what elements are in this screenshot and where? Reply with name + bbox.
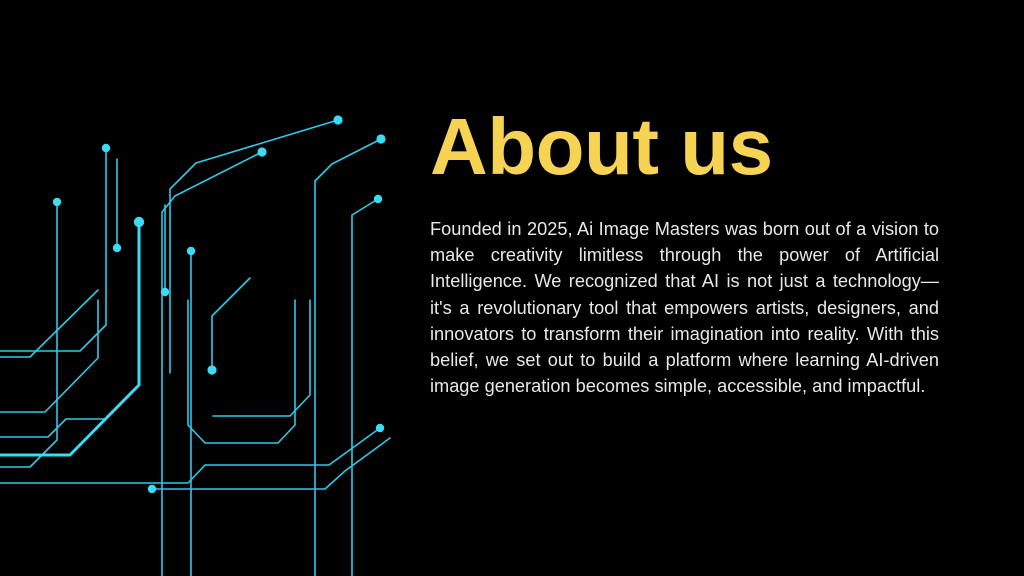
trace-diag-4 xyxy=(352,199,378,576)
about-us-paragraph: Founded in 2025, Ai Image Masters was bo… xyxy=(430,216,939,399)
trace-diag-3 xyxy=(315,139,381,576)
trace-bottom-2 xyxy=(152,438,390,489)
circuit-node xyxy=(333,115,342,124)
slide-canvas: About us Founded in 2025, Ai Image Maste… xyxy=(0,0,1024,576)
circuit-board-graphic xyxy=(0,0,420,576)
circuit-node xyxy=(374,195,382,203)
trace-diag-1 xyxy=(170,120,338,373)
trace-diag-2 xyxy=(162,152,262,576)
trace-left-1 xyxy=(0,148,106,351)
trace-left-5 xyxy=(0,290,98,357)
trace-bright-main xyxy=(0,222,139,455)
trace-left-3 xyxy=(0,419,105,437)
text-content-block: About us Founded in 2025, Ai Image Maste… xyxy=(430,0,939,576)
trace-ushape-stub xyxy=(212,278,250,370)
circuit-traces-bright xyxy=(0,222,139,455)
circuit-node xyxy=(102,144,110,152)
trace-ushape xyxy=(188,300,295,443)
circuit-node xyxy=(148,485,156,493)
circuit-node xyxy=(134,217,144,227)
trace-left-4 xyxy=(0,300,98,412)
circuit-node xyxy=(376,424,384,432)
circuit-node xyxy=(161,288,169,296)
circuit-traces-thin xyxy=(0,120,390,576)
trace-bottom-1 xyxy=(0,428,380,483)
circuit-node xyxy=(257,147,266,156)
circuit-node xyxy=(113,244,121,252)
circuit-node xyxy=(207,365,216,374)
trace-right-turn xyxy=(213,300,310,416)
circuit-node xyxy=(187,247,195,255)
circuit-node xyxy=(376,134,385,143)
trace-left-2 xyxy=(0,202,57,467)
page-title: About us xyxy=(430,103,773,191)
circuit-nodes xyxy=(53,115,386,493)
circuit-node xyxy=(53,198,61,206)
